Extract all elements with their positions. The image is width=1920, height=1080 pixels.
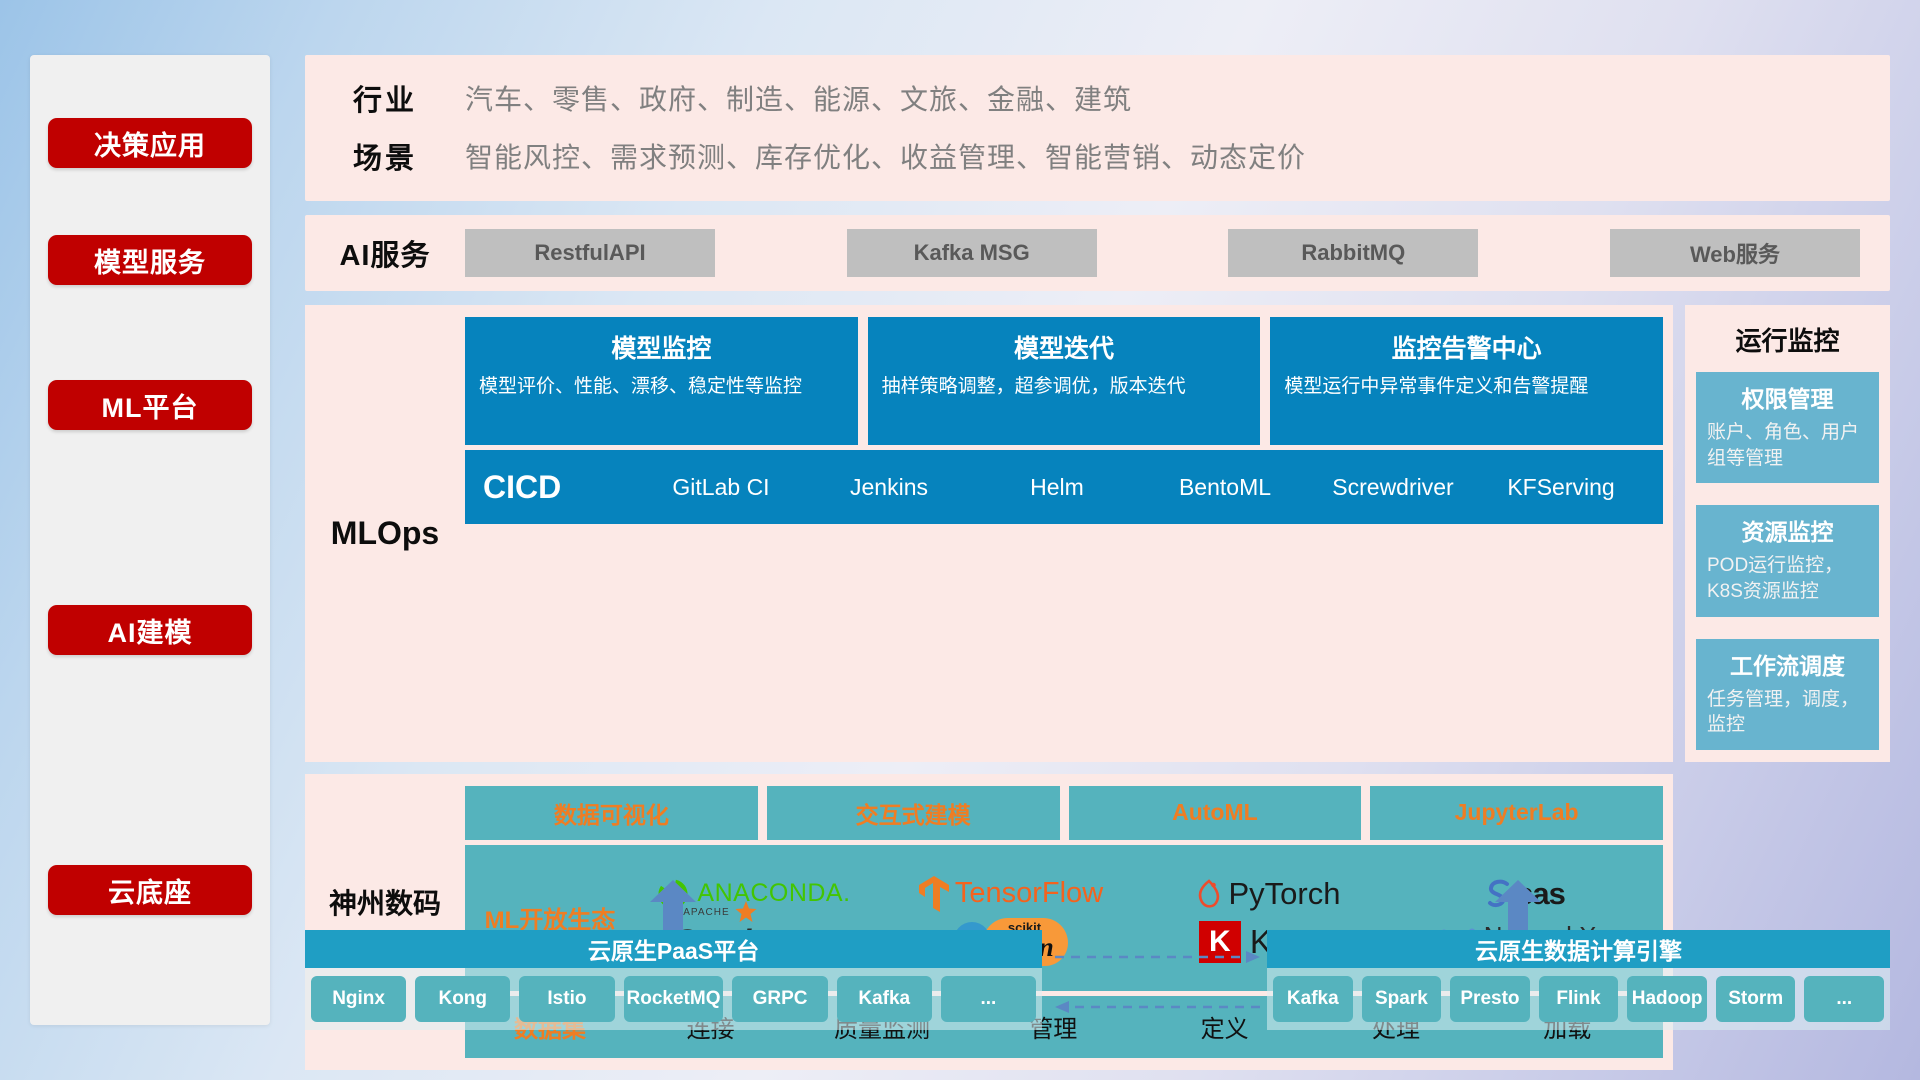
engine-chip-more[interactable]: ... xyxy=(1804,976,1884,1022)
model-service-band: AI服务 RestfulAPI Kafka MSG RabbitMQ Web服务 xyxy=(305,215,1890,291)
cicd-item-screwdriver[interactable]: Screwdriver xyxy=(1309,474,1477,500)
paas-chip-tray: Nginx Kong Istio RocketMQ GRPC Kafka ... xyxy=(305,968,1042,1030)
run-monitor-card-workflow[interactable]: 工作流调度 任务管理，调度，监控 xyxy=(1696,639,1879,750)
stage-label: ML平台 xyxy=(102,386,199,425)
ai-service-chip-rabbitmq[interactable]: RabbitMQ xyxy=(1228,229,1478,277)
paas-chip-more[interactable]: ... xyxy=(941,976,1036,1022)
engine-chip-flink[interactable]: Flink xyxy=(1539,976,1619,1022)
connector-arrowhead-right xyxy=(1246,951,1260,963)
mlops-card-title: 模型迭代 xyxy=(882,329,1247,365)
cicd-item-helm[interactable]: Helm xyxy=(973,474,1141,500)
stage-badge-decision-app[interactable]: 决策应用 xyxy=(48,118,252,168)
mlops-card-list: 模型监控 模型评价、性能、漂移、稳定性等监控 模型迭代 抽样策略调整，超参调优，… xyxy=(465,317,1663,445)
mlops-body: 模型监控 模型评价、性能、漂移、稳定性等监控 模型迭代 抽样策略调整，超参调优，… xyxy=(465,317,1663,750)
run-monitor-card-desc: 账户、角色、用户组等管理 xyxy=(1707,420,1868,471)
scenario-value: 智能风控、需求预测、库存优化、收益管理、智能营销、动态定价 xyxy=(465,136,1306,176)
paas-chip-nginx[interactable]: Nginx xyxy=(311,976,406,1022)
cicd-item-gitlab-ci[interactable]: GitLab CI xyxy=(637,474,805,500)
ml-platform-band: MLOps 模型监控 模型评价、性能、漂移、稳定性等监控 模型迭代 抽样策略调整… xyxy=(305,305,1673,762)
mlops-card-model-monitoring[interactable]: 模型监控 模型评价、性能、漂移、稳定性等监控 xyxy=(465,317,858,445)
engine-chip-hadoop[interactable]: Hadoop xyxy=(1627,976,1707,1022)
modeling-tool-list: 数据可视化 交互式建模 AutoML JupyterLab xyxy=(465,786,1663,840)
decision-application-band: 行业 汽车、零售、政府、制造、能源、文旅、金融、建筑 场景 智能风控、需求预测、… xyxy=(305,55,1890,201)
scenario-key: 场景 xyxy=(305,135,465,177)
stage-label: 决策应用 xyxy=(94,124,206,163)
mlops-card-title: 模型监控 xyxy=(479,329,844,365)
paas-platform-group: 云原生PaaS平台 Nginx Kong Istio RocketMQ GRPC… xyxy=(305,930,1042,1030)
data-engine-group: 云原生数据计算引擎 Kafka Spark Presto Flink Hadoo… xyxy=(1267,930,1890,1030)
engine-up-arrow xyxy=(1495,880,1541,930)
ml-platform-row: MLOps 模型监控 模型评价、性能、漂移、稳定性等监控 模型迭代 抽样策略调整… xyxy=(305,305,1890,762)
industry-key: 行业 xyxy=(305,77,465,119)
engine-chip-kafka[interactable]: Kafka xyxy=(1273,976,1353,1022)
cicd-item-list: GitLab CI Jenkins Helm BentoML Screwdriv… xyxy=(637,474,1645,500)
stage-rail: 决策应用 模型服务 ML平台 AI建模 云底座 xyxy=(30,55,270,1025)
modeling-tool-interactive-modeling[interactable]: 交互式建模 xyxy=(767,786,1060,840)
modeling-tool-data-visualization[interactable]: 数据可视化 xyxy=(465,786,758,840)
stage-badge-ai-modeling[interactable]: AI建模 xyxy=(48,605,252,655)
cicd-item-bentoml[interactable]: BentoML xyxy=(1141,474,1309,500)
engine-chip-storm[interactable]: Storm xyxy=(1716,976,1796,1022)
stage-label: AI建模 xyxy=(108,611,193,650)
ai-service-chip-list: RestfulAPI Kafka MSG RabbitMQ Web服务 xyxy=(465,229,1890,277)
mlops-key: MLOps xyxy=(305,317,465,750)
scenario-row: 场景 智能风控、需求预测、库存优化、收益管理、智能营销、动态定价 xyxy=(305,135,1890,177)
up-arrow-icon xyxy=(1495,880,1541,930)
stage-label: 模型服务 xyxy=(94,241,206,280)
run-monitor-card-title: 资源监控 xyxy=(1707,513,1868,547)
paas-platform-title: 云原生PaaS平台 xyxy=(305,930,1042,968)
paas-chip-kong[interactable]: Kong xyxy=(415,976,510,1022)
stage-badge-cloud-base[interactable]: 云底座 xyxy=(48,865,252,915)
run-monitor-card-title: 工作流调度 xyxy=(1707,647,1868,681)
mlops-card-model-iteration[interactable]: 模型迭代 抽样策略调整，超参调优，版本迭代 xyxy=(868,317,1261,445)
paas-engine-connector xyxy=(1050,937,1265,1032)
connector-arrowhead-left xyxy=(1055,1001,1069,1013)
run-monitor-card-desc: 任务管理，调度，监控 xyxy=(1707,687,1868,738)
cicd-item-jenkins[interactable]: Jenkins xyxy=(805,474,973,500)
engine-chip-spark[interactable]: Spark xyxy=(1362,976,1442,1022)
ai-service-chip-web[interactable]: Web服务 xyxy=(1610,229,1860,277)
mlops-card-alert-center[interactable]: 监控告警中心 模型运行中异常事件定义和告警提醒 xyxy=(1270,317,1663,445)
run-monitor-card-title: 权限管理 xyxy=(1707,380,1868,414)
industry-row: 行业 汽车、零售、政府、制造、能源、文旅、金融、建筑 xyxy=(305,77,1890,119)
ai-service-chip-restfulapi[interactable]: RestfulAPI xyxy=(465,229,715,277)
engine-chip-tray: Kafka Spark Presto Flink Hadoop Storm ..… xyxy=(1267,968,1890,1030)
stage-label: 云底座 xyxy=(108,871,192,910)
run-monitor-card-permission[interactable]: 权限管理 账户、角色、用户组等管理 xyxy=(1696,372,1879,483)
cicd-item-kfserving[interactable]: KFServing xyxy=(1477,474,1645,500)
paas-chip-rocketmq[interactable]: RocketMQ xyxy=(624,976,724,1022)
mlops-card-title: 监控告警中心 xyxy=(1284,329,1649,365)
paas-chip-kafka[interactable]: Kafka xyxy=(837,976,932,1022)
modeling-tool-automl[interactable]: AutoML xyxy=(1069,786,1362,840)
modeling-tool-jupyterlab[interactable]: JupyterLab xyxy=(1370,786,1663,840)
ai-service-key: AI服务 xyxy=(305,232,465,274)
run-monitor-title: 运行监控 xyxy=(1696,321,1879,358)
stage-badge-model-service[interactable]: 模型服务 xyxy=(48,235,252,285)
cicd-label: CICD xyxy=(483,469,633,506)
cicd-bar: CICD GitLab CI Jenkins Helm BentoML Scre… xyxy=(465,450,1663,524)
paas-up-arrow xyxy=(650,880,696,930)
paas-chip-grpc[interactable]: GRPC xyxy=(732,976,827,1022)
engine-chip-presto[interactable]: Presto xyxy=(1450,976,1530,1022)
mlops-card-desc: 抽样策略调整，超参调优，版本迭代 xyxy=(882,374,1247,400)
mlops-card-desc: 模型运行中异常事件定义和告警提醒 xyxy=(1284,374,1649,400)
up-arrow-icon xyxy=(650,880,696,930)
run-monitor-panel: 运行监控 权限管理 账户、角色、用户组等管理 资源监控 POD运行监控，K8S资… xyxy=(1685,305,1890,762)
run-monitor-card-desc: POD运行监控，K8S资源监控 xyxy=(1707,553,1868,604)
data-engine-title: 云原生数据计算引擎 xyxy=(1267,930,1890,968)
stage-badge-ml-platform[interactable]: ML平台 xyxy=(48,380,252,430)
cloud-base-section: 云原生PaaS平台 Nginx Kong Istio RocketMQ GRPC… xyxy=(305,885,1890,1030)
run-monitor-card-resource[interactable]: 资源监控 POD运行监控，K8S资源监控 xyxy=(1696,505,1879,616)
ai-service-chip-kafka-msg[interactable]: Kafka MSG xyxy=(847,229,1097,277)
industry-value: 汽车、零售、政府、制造、能源、文旅、金融、建筑 xyxy=(465,78,1132,118)
paas-chip-istio[interactable]: Istio xyxy=(519,976,614,1022)
mlops-card-desc: 模型评价、性能、漂移、稳定性等监控 xyxy=(479,374,844,400)
